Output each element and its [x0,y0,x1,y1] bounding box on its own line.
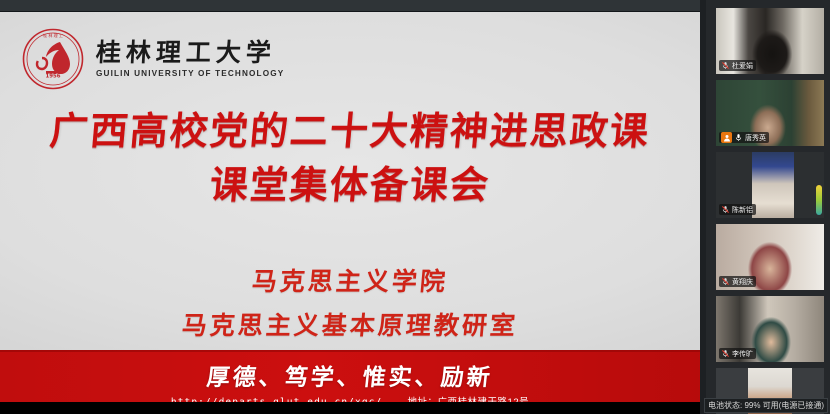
participant-name: 陈新铝 [732,205,753,215]
slide-headline: 广西高校党的二十大精神进思政课 课堂集体备课会 [0,104,700,212]
participant-tile[interactable]: 杜爱娟 [716,8,824,74]
participant-name: 李传旷 [732,349,753,359]
university-logo-block: 1956 桂 林 理 工 桂林理工大学 GUILIN UNIVERSITY OF… [22,28,284,90]
participant-rail: 杜爱娟 [700,0,830,414]
participant-nametag: 李传旷 [719,348,756,359]
participant-name: 黄翔庆 [732,277,753,287]
university-name: 桂林理工大学 GUILIN UNIVERSITY OF TECHNOLOGY [96,40,284,78]
host-badge-icon [721,132,732,143]
department-url: http://departs.glut.edu.cn/xgc/ [171,397,382,402]
university-name-cn: 桂林理工大学 [95,40,285,65]
participant-nametag: 唐秀英 [719,132,769,143]
department-address: 地址：广西桂林建干路12号 [408,397,530,402]
participant-tile-active[interactable]: 唐秀英 [716,80,824,146]
headline-line-2: 课堂集体备课会 [0,158,700,212]
university-name-en: GUILIN UNIVERSITY OF TECHNOLOGY [96,70,284,78]
footer-meta: http://departs.glut.edu.cn/xgc/ 地址：广西桂林建… [0,394,700,402]
band-divider [0,350,700,352]
mic-muted-icon [721,349,730,358]
shared-screen-stage: 1956 桂 林 理 工 桂林理工大学 GUILIN UNIVERSITY OF… [0,12,700,414]
participant-name: 唐秀英 [745,133,766,143]
participant-tile[interactable]: 李传旷 [716,296,824,362]
slide-footer-band: 厚德、笃学、惟实、励新 http://departs.glut.edu.cn/x… [0,350,700,402]
participant-tile[interactable]: 陈新铝 [716,152,824,218]
mic-icon [734,133,743,142]
mic-muted-icon [721,277,730,286]
battery-status-text: 电池状态: 99% 可用(电源已接通) [708,400,824,411]
window-toolbar[interactable] [0,0,700,12]
audio-level-meter[interactable] [816,185,822,215]
slide-subtitle: 马克思主义学院 马克思主义基本原理教研室 [0,260,700,348]
subtitle-line-1: 马克思主义学院 [0,260,700,304]
participant-tile[interactable]: 黄翔庆 [716,224,824,290]
university-motto: 厚德、笃学、惟实、励新 [0,358,700,392]
svg-text:桂 林 理 工: 桂 林 理 工 [43,32,63,38]
meeting-window: 1956 桂 林 理 工 桂林理工大学 GUILIN UNIVERSITY OF… [0,0,830,414]
participant-name: 杜爱娟 [732,61,753,71]
participant-silhouette [752,152,794,218]
svg-text:1956: 1956 [45,74,60,80]
university-seal-icon: 1956 桂 林 理 工 [22,28,84,90]
participant-nametag: 陈新铝 [719,204,756,215]
participant-nametag: 杜爱娟 [719,60,756,71]
headline-line-1: 广西高校党的二十大精神进思政课 [0,104,700,158]
presentation-slide: 1956 桂 林 理 工 桂林理工大学 GUILIN UNIVERSITY OF… [0,12,700,402]
mic-muted-icon [721,205,730,214]
subtitle-line-2: 马克思主义基本原理教研室 [0,304,700,348]
mic-muted-icon [721,61,730,70]
participant-nametag: 黄翔庆 [719,276,756,287]
battery-status-tooltip: 电池状态: 99% 可用(电源已接通) [704,398,828,413]
